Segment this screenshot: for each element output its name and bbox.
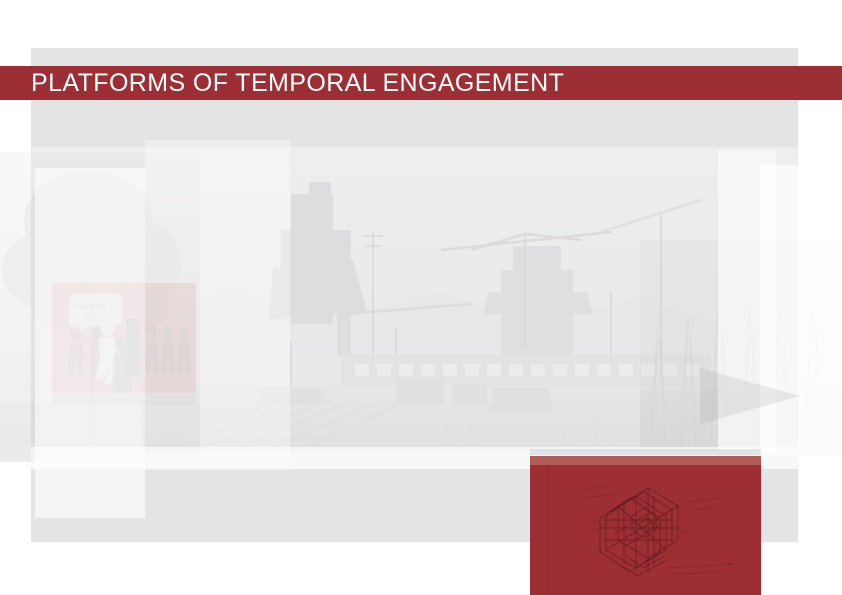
card-top-band bbox=[530, 456, 761, 465]
page-title: PLATFORMS OF TEMPORAL ENGAGEMENT bbox=[31, 68, 811, 99]
overlay-veil-mid bbox=[145, 140, 290, 470]
architectural-sketch-card bbox=[530, 456, 761, 595]
slide-canvas: remember this? bbox=[0, 0, 842, 595]
ghost-triangle-shape bbox=[700, 368, 800, 424]
architectural-line-drawing bbox=[548, 468, 748, 593]
card-shadow-strip bbox=[530, 449, 761, 455]
